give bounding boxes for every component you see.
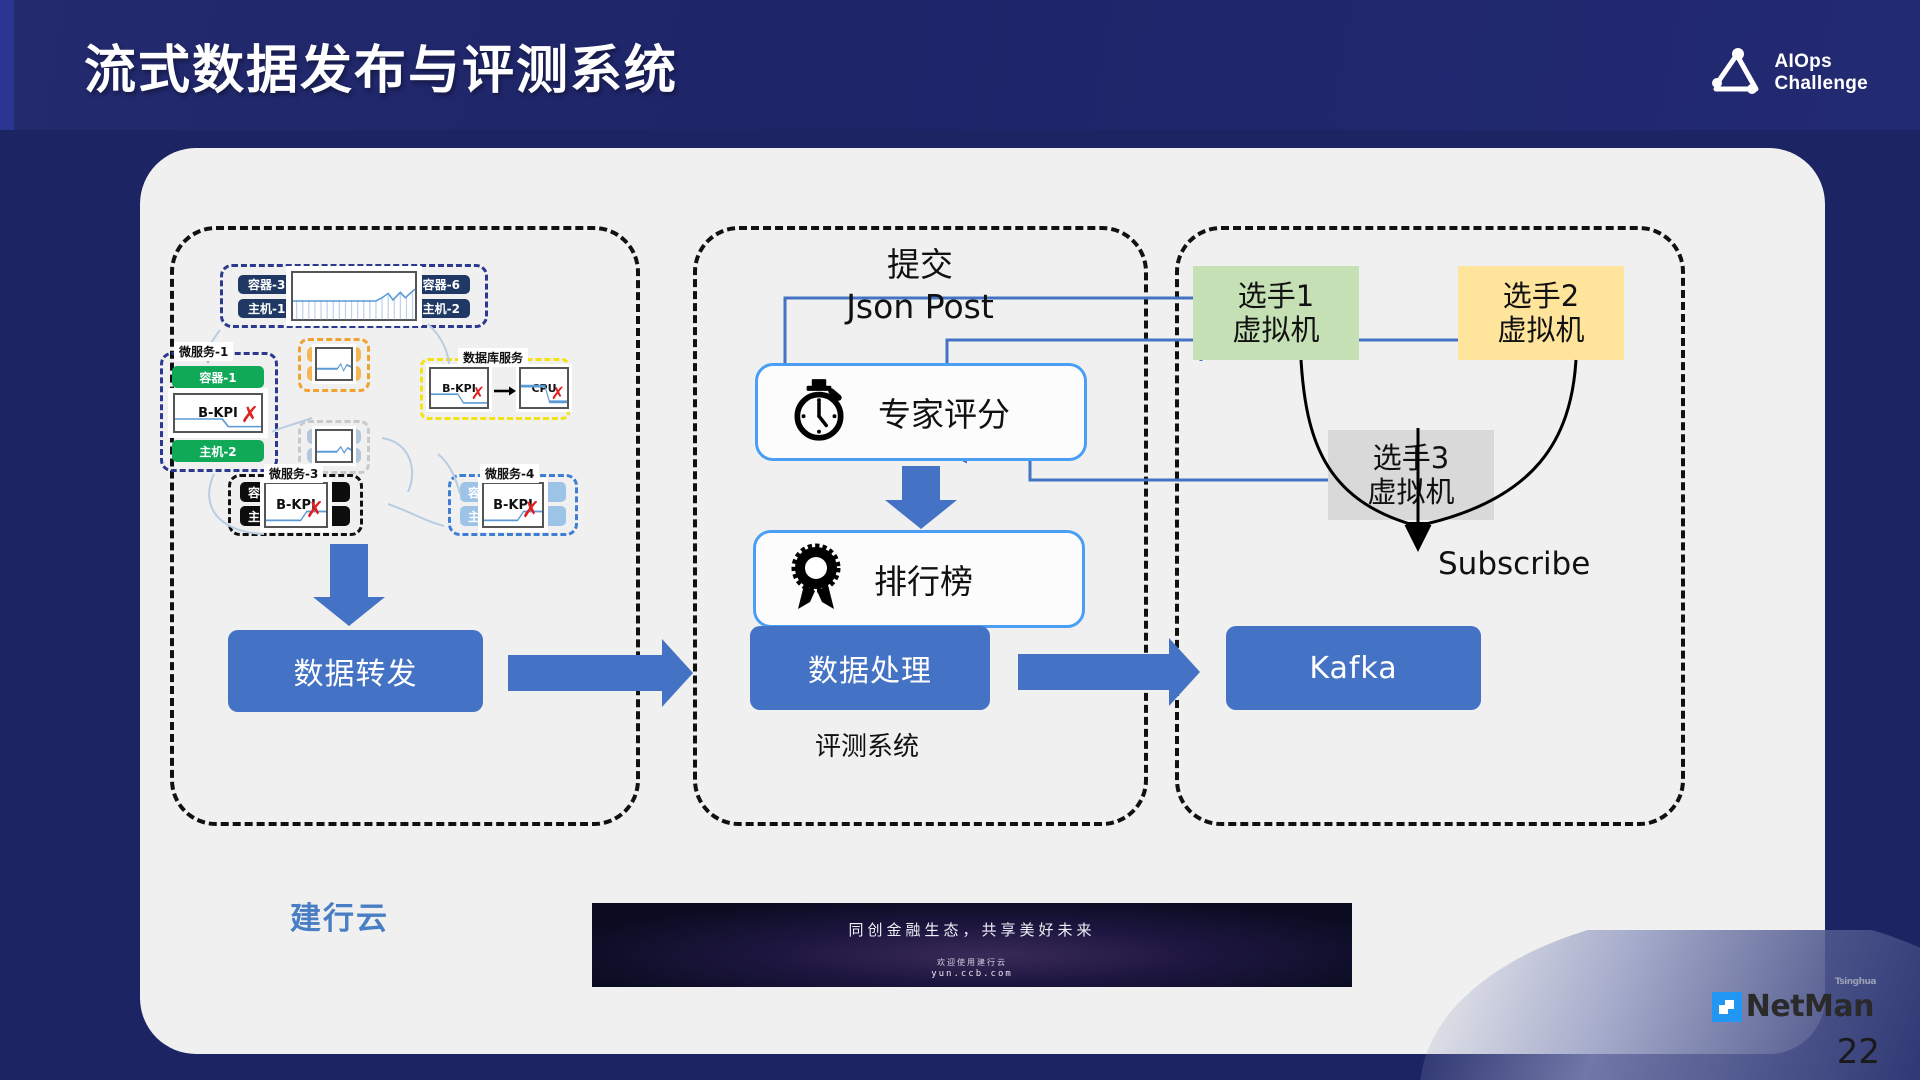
player-1-type: 虚拟机 — [1232, 313, 1319, 347]
ms4-kpi-card: B-KPI ✗ — [478, 478, 548, 532]
db-kpi-card: B-KPI ✗ — [426, 364, 492, 412]
ms1-fault-icon: ✗ — [241, 405, 259, 427]
header-accent-bar — [0, 0, 14, 130]
arrow-score-to-leaderboard — [902, 466, 940, 501]
logo-line-1: AIOps — [1775, 51, 1869, 72]
ms4-kpi: B-KPI ✗ — [482, 482, 544, 528]
player-2-vm[interactable]: 选手2 虚拟机 — [1458, 266, 1624, 360]
db-title: 数据库服务 — [458, 348, 528, 367]
ms3-title: 微服务-3 — [264, 464, 323, 483]
aiops-challenge-logo: AIOps Challenge — [1707, 44, 1869, 101]
ms4-title: 微服务-4 — [480, 464, 539, 483]
page-number: 22 — [1837, 1032, 1880, 1072]
ccb-banner-url: yun.ccb.com — [592, 969, 1352, 979]
ccb-cloud-label: 建行云 — [290, 893, 389, 938]
orange-chart-card — [312, 344, 356, 384]
top-group-chart-card — [286, 266, 422, 326]
db-fault-icon: ✗ — [471, 386, 485, 403]
submit-line-2: Json Post — [800, 286, 1040, 328]
ccb-banner-subtitle: 欢迎使用建行云 — [592, 957, 1352, 968]
expert-score-label: 专家评分 — [878, 388, 1010, 436]
db-cpu-fault-icon: ✗ — [551, 386, 565, 403]
player-1-vm[interactable]: 选手1 虚拟机 — [1193, 266, 1359, 360]
ccb-cloud-banner: 同创金融生态，共享美好未来 欢迎使用建行云 yun.ccb.com — [592, 903, 1352, 987]
diagram-card: 容器-3 容器-6 主机-1 主机-2 — [140, 148, 1825, 1054]
panel-evaluation-caption: 评测系统 — [815, 726, 919, 763]
process-data-forward[interactable]: 数据转发 — [228, 630, 483, 712]
expert-score-box[interactable]: 专家评分 — [755, 363, 1087, 461]
netman-logo: NetMan Tsinghua — [1712, 989, 1874, 1024]
ms3-kpi-card: B-KPI ✗ — [260, 478, 332, 532]
top-group-chart — [291, 271, 417, 321]
subscribe-label: Subscribe — [1438, 546, 1590, 582]
leaderboard-label: 排行榜 — [874, 555, 973, 603]
db-cpu: CPU ✗ — [519, 367, 569, 409]
netman-superscript: Tsinghua — [1835, 977, 1876, 987]
slide-root: 流式数据发布与评测系统 AIOps Challenge — [0, 0, 1920, 1080]
player-1-name: 选手1 — [1238, 279, 1314, 313]
ms3-kpi: B-KPI ✗ — [264, 482, 328, 528]
award-ribbon-icon — [784, 543, 848, 616]
ccb-banner-title: 同创金融生态，共享美好未来 — [592, 919, 1352, 940]
slide-header: 流式数据发布与评测系统 AIOps Challenge — [0, 0, 1920, 130]
subscribe-curves — [1175, 348, 1685, 648]
arrow-process-to-kafka — [1018, 654, 1170, 690]
orange-chart — [315, 347, 353, 381]
db-kpi: B-KPI ✗ — [429, 367, 489, 409]
stopwatch-icon — [786, 377, 852, 448]
process-kafka[interactable]: Kafka — [1226, 626, 1481, 710]
logo-text: AIOps Challenge — [1775, 51, 1869, 94]
process-data-processing[interactable]: 数据处理 — [750, 626, 990, 710]
logo-line-2: Challenge — [1775, 73, 1869, 94]
player-2-name: 选手2 — [1503, 279, 1579, 313]
db-cpu-card: CPU ✗ — [516, 364, 572, 412]
leaderboard-box[interactable]: 排行榜 — [753, 530, 1085, 628]
submit-label: 提交 Json Post — [800, 244, 1040, 328]
ms4-fault-icon: ✗ — [522, 500, 540, 522]
arrow-down-to-forward — [330, 544, 368, 598]
arrow-forward-to-process — [508, 655, 663, 691]
player-2-type: 虚拟机 — [1497, 313, 1584, 347]
netman-mark-icon — [1712, 992, 1742, 1022]
ms1-title: 微服务-1 — [174, 342, 233, 361]
grey-chart — [315, 429, 353, 463]
ms1-kpi: B-KPI ✗ — [173, 393, 263, 433]
aiops-triangle-icon — [1707, 44, 1763, 101]
netman-text: NetMan Tsinghua — [1746, 989, 1874, 1024]
submit-line-1: 提交 — [800, 244, 1040, 286]
grey-chart-card — [312, 426, 356, 466]
slide-body: 容器-3 容器-6 主机-1 主机-2 — [0, 130, 1920, 1080]
page-title: 流式数据发布与评测系统 — [84, 28, 678, 103]
ms3-fault-icon: ✗ — [306, 500, 324, 522]
ms1-kpi-card: B-KPI ✗ — [168, 388, 268, 438]
